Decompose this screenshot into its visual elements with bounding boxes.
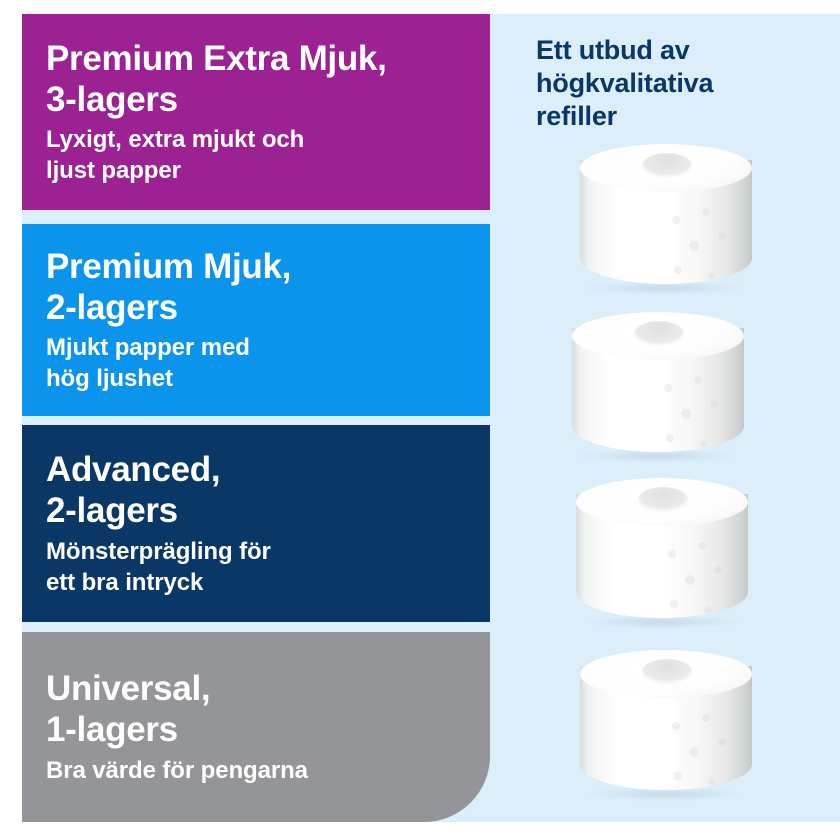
- roll-emboss-pattern: [664, 712, 738, 798]
- roll-center-hole: [638, 487, 688, 512]
- toilet-paper-roll-icon: [580, 650, 752, 798]
- panel-subtitle: Mjukt papper med hög ljushet: [46, 332, 466, 394]
- refill-showcase-column: Ett utbud av högkvalitativa refiller: [536, 22, 836, 822]
- roll-emboss-pattern: [656, 374, 730, 460]
- panel-title: Universal, 1-lagers: [46, 668, 466, 751]
- toilet-paper-roll-icon: [572, 312, 744, 460]
- toilet-paper-roll-icon: [580, 144, 752, 292]
- panel-subtitle: Bra värde för pengarna: [46, 755, 466, 786]
- product-tier-panel-premium-extra-mjuk[interactable]: Premium Extra Mjuk, 3-lagers Lyxigt, ext…: [22, 14, 490, 210]
- roll-center-hole: [634, 321, 684, 346]
- panel-subtitle: Mönsterprägling för ett bra intryck: [46, 536, 466, 598]
- panel-subtitle: Lyxigt, extra mjukt och ljust papper: [46, 124, 466, 186]
- product-tier-panel-universal[interactable]: Universal, 1-lagers Bra värde för pengar…: [22, 632, 490, 822]
- roll-center-hole: [642, 153, 692, 178]
- product-tier-panel-premium-mjuk[interactable]: Premium Mjuk, 2-lagers Mjukt papper med …: [22, 224, 490, 416]
- refill-showcase-heading: Ett utbud av högkvalitativa refiller: [536, 22, 836, 133]
- panel-title: Premium Extra Mjuk, 3-lagers: [46, 38, 466, 121]
- roll-emboss-pattern: [664, 206, 738, 292]
- roll-emboss-pattern: [660, 540, 734, 626]
- toilet-paper-roll-icon: [576, 478, 748, 626]
- product-tier-panel-advanced[interactable]: Advanced, 2-lagers Mönsterprägling för e…: [22, 425, 490, 622]
- roll-center-hole: [642, 659, 692, 684]
- infographic-stage: Premium Extra Mjuk, 3-lagers Lyxigt, ext…: [0, 0, 840, 840]
- panel-title: Advanced, 2-lagers: [46, 449, 466, 532]
- panel-title: Premium Mjuk, 2-lagers: [46, 246, 466, 329]
